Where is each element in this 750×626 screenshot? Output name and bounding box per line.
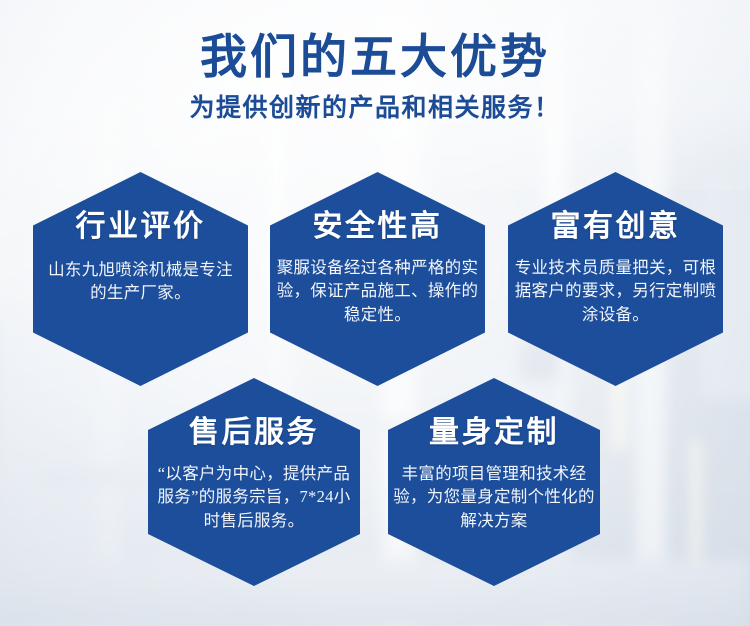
advantage-title: 安全性高 xyxy=(313,212,443,242)
advantage-body: 专业技术员质量把关，可根据客户的要求，另行定制喷涂设备。 xyxy=(510,256,722,326)
banner-heading: 我们的五大优势 为提供创新的产品和相关服务！ xyxy=(0,32,750,124)
advantage-body: 聚脲设备经过各种严格的实验，保证产品施工、操作的稳定性。 xyxy=(273,256,483,326)
advantage-body: 丰富的项目管理和技术经验，为您量身定制个性化的解决方案 xyxy=(391,462,597,532)
advantage-title: 售后服务 xyxy=(189,418,319,448)
advantage-title: 行业评价 xyxy=(76,212,206,242)
advantage-body: “以客户为中心，提供产品服务”的服务宗旨，7*24小时售后服务。 xyxy=(150,462,358,532)
page-title: 我们的五大优势 xyxy=(0,32,750,85)
advantage-title: 量身定制 xyxy=(429,418,559,448)
advantage-title: 富有创意 xyxy=(551,212,681,242)
advantage-body: 山东九旭喷涂机械是专注的生产厂家。 xyxy=(43,258,239,305)
advantages-banner: 我们的五大优势 为提供创新的产品和相关服务！ 行业评价 山东九旭喷涂机械是专注的… xyxy=(0,0,750,626)
page-subtitle: 为提供创新的产品和相关服务！ xyxy=(0,94,750,124)
